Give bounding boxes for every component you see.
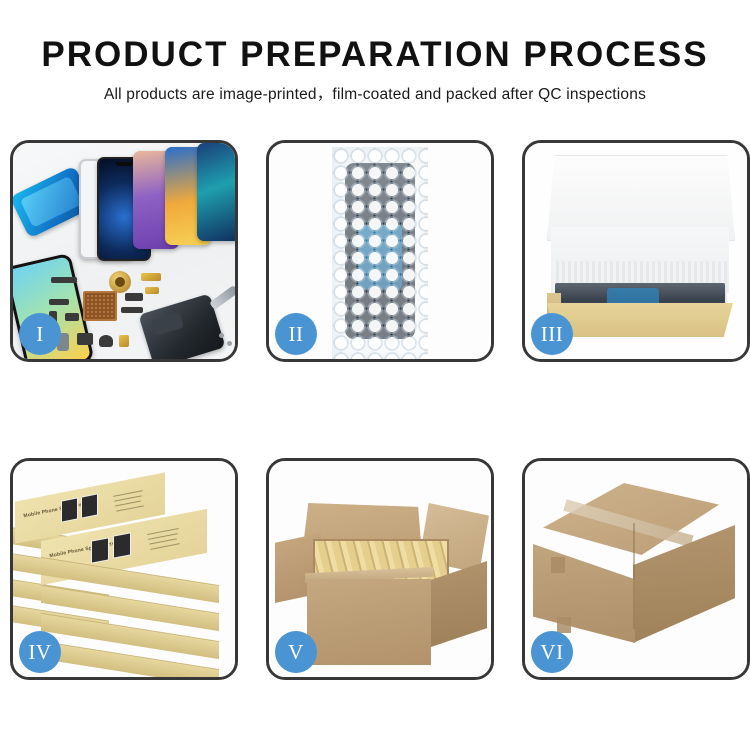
ribbon-cable-icon [121,307,143,313]
step-badge-3: III [531,313,573,355]
process-step-5: V [266,458,494,680]
step-badge-1: I [19,313,61,355]
small-part-icon [65,313,79,321]
process-step-1: I [10,140,238,362]
notch-icon [115,162,133,166]
chip-array-icon [83,291,117,321]
process-step-2: II [266,140,494,362]
module-part-icon [77,333,93,345]
camera-flex-icon [125,293,143,301]
teal-phone-icon [197,143,235,241]
process-step-6: VI [522,458,750,680]
step-badge-6: VI [531,631,573,673]
speaker-part-icon [99,335,113,347]
connector-part-icon [51,277,77,283]
page-subtitle: All products are image-printed，film-coat… [0,84,750,106]
carton-tab-2-icon [557,617,571,633]
phone-print-icon [81,493,98,518]
bubble-pattern-icon [332,147,428,359]
phone-print-icon [91,537,109,563]
screw-icon [219,333,224,338]
header: PRODUCT PREPARATION PROCESS All products… [0,0,750,106]
step-badge-4: IV [19,631,61,673]
carton-tab-icon [551,557,565,573]
process-step-grid: I II III [10,140,740,680]
process-step-4: Mobile Phone Spare Parts Mobile Phone Sp… [10,458,238,680]
process-step-3: III [522,140,750,362]
gold-flex-part-icon [141,273,161,281]
flex-cable-icon [49,299,69,305]
mailer-front-wall-icon [547,303,733,337]
screwdriver-icon [209,285,235,310]
step-badge-2: II [275,313,317,355]
phone-print-icon [61,497,78,522]
carton-front-face-icon [533,533,635,643]
screw-2-icon [227,341,232,346]
page-title: PRODUCT PREPARATION PROCESS [0,34,750,76]
carton-corner-seam-icon [633,523,635,629]
gold-flex-part-2-icon [145,287,159,294]
gold-connector-icon [119,335,129,347]
step-badge-5: V [275,631,317,673]
carton-front-face-icon [307,579,431,665]
speaker-coil-icon [109,271,131,293]
phone-print-icon [113,532,131,558]
